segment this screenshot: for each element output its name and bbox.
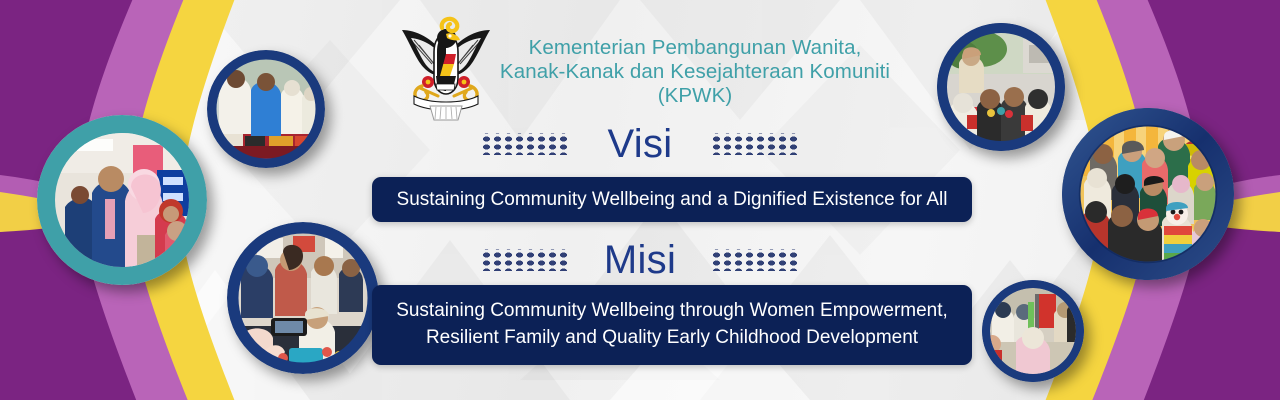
dot-grid-left-misi <box>481 249 569 271</box>
visi-heading: Visi <box>595 124 685 164</box>
ministry-title-line2: Kanak-Kanak dan Kesejahteraan Komuniti <box>470 60 920 84</box>
misi-statement-band: Sustaining Community Wellbeing through W… <box>372 285 972 365</box>
misi-statement-line1: Sustaining Community Wellbeing through W… <box>396 298 948 325</box>
ministry-title-line3: (KPWK) <box>470 84 920 108</box>
misi-heading-row: Misi <box>0 240 1280 280</box>
ministry-title-line1: Kementerian Pembangunan Wanita, <box>470 36 920 60</box>
dot-grid-left-visi <box>481 133 569 155</box>
kpwk-vision-mission-banner: Kementerian Pembangunan Wanita, Kanak-Ka… <box>0 0 1280 400</box>
misi-heading: Misi <box>595 240 685 280</box>
dot-grid-right-misi <box>711 249 799 271</box>
dot-grid-right-visi <box>711 133 799 155</box>
visi-heading-row: Visi <box>0 124 1280 164</box>
banner-content: Kementerian Pembangunan Wanita, Kanak-Ka… <box>0 0 1280 400</box>
ministry-title: Kementerian Pembangunan Wanita, Kanak-Ka… <box>470 36 920 108</box>
misi-statement-line2: Resilient Family and Quality Early Child… <box>396 325 948 352</box>
visi-statement-text: Sustaining Community Wellbeing and a Dig… <box>397 189 948 211</box>
visi-statement-band: Sustaining Community Wellbeing and a Dig… <box>372 177 972 222</box>
